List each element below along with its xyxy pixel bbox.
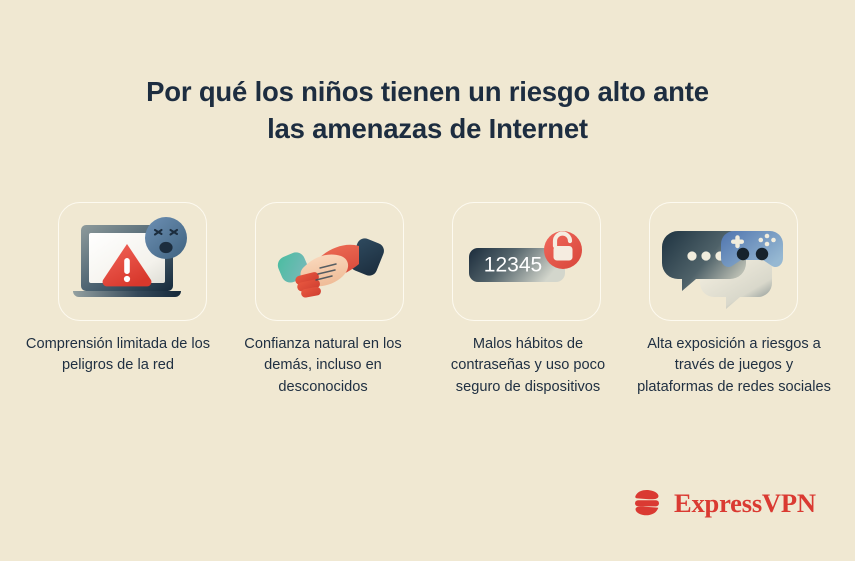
handshake-icon — [271, 220, 389, 304]
caption-row: Comprensión limitada de los peligros de … — [20, 334, 835, 398]
page-title-line-2: las amenazas de Internet — [0, 111, 855, 147]
caption-1: Comprensión limitada de los peligros de … — [20, 334, 216, 398]
page-title: Por qué los niños tienen un riesgo alto … — [0, 74, 855, 147]
caption-4: Alta exposición a riesgos a través de ju… — [633, 334, 835, 398]
laptop-warning-sad-face-icon — [71, 216, 195, 308]
expressvpn-wordmark: ExpressVPN — [674, 488, 816, 519]
expressvpn-e-mark-icon — [630, 486, 664, 520]
password-value: 12345 — [483, 253, 541, 276]
caption-2: Confianza natural en los demás, incluso … — [223, 334, 423, 398]
weak-password-unlocked-icon: 12345 — [467, 224, 587, 300]
expressvpn-logo: ExpressVPN — [630, 486, 816, 520]
icon-card-3: 12345 — [452, 202, 601, 321]
icon-card-2 — [255, 202, 404, 321]
caption-3: Malos hábitos de contraseñas y uso poco … — [430, 334, 626, 398]
chat-bubble-gamepad-icon — [662, 215, 786, 309]
page-title-line-1: Por qué los niños tienen un riesgo alto … — [0, 74, 855, 110]
icon-card-1 — [58, 202, 207, 321]
icon-card-4 — [649, 202, 798, 321]
icon-card-row: 12345 — [58, 202, 798, 321]
infographic-page: Por qué los niños tienen un riesgo alto … — [0, 0, 855, 561]
